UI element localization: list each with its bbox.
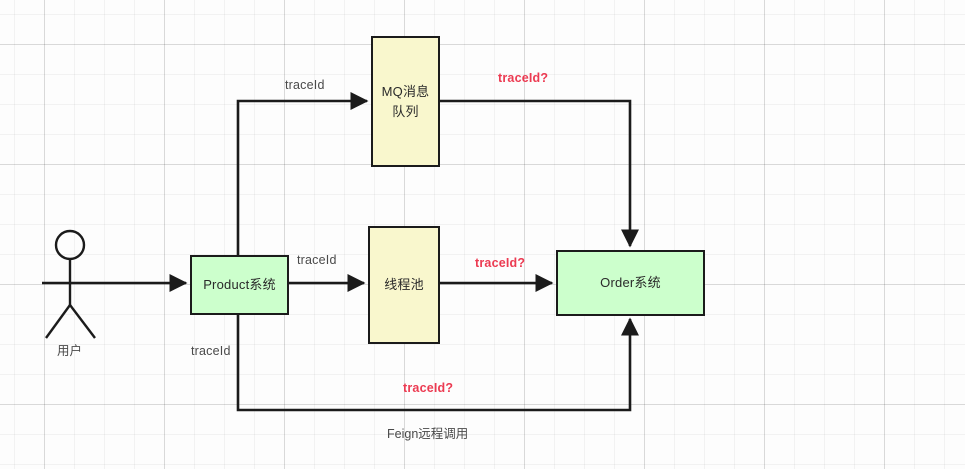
actor-user-label: 用户: [57, 340, 82, 359]
node-product-system[interactable]: Product系统: [190, 255, 289, 315]
edge-mq-to-order: [440, 101, 630, 246]
node-mq-queue[interactable]: MQ消息 队列: [371, 36, 440, 167]
node-order-system-label: Order系统: [600, 273, 661, 293]
node-mq-queue-label-line2: 队列: [392, 102, 418, 122]
node-product-system-label: Product系统: [203, 275, 276, 295]
node-thread-pool[interactable]: 线程池: [368, 226, 440, 344]
edge-label-feign-to-order: traceId?: [403, 381, 453, 395]
diagram-canvas: Product系统 MQ消息 队列 线程池 Order系统 用户 traceId…: [0, 0, 965, 469]
node-thread-pool-label: 线程池: [384, 275, 424, 295]
node-mq-queue-label-line1: MQ消息: [382, 82, 430, 102]
diagram-connectors: [0, 0, 965, 469]
node-order-system[interactable]: Order系统: [556, 250, 705, 316]
caption-feign-remote-call: Feign远程调用: [387, 423, 468, 442]
edge-label-product-down: traceId: [191, 344, 231, 358]
edge-product-to-mq: [238, 101, 367, 255]
actor-user-figure: [42, 231, 106, 338]
edge-label-mq-to-order: traceId?: [498, 71, 548, 85]
edge-label-threadpool-to-order: traceId?: [475, 256, 525, 270]
edge-label-product-to-threadpool: traceId: [297, 253, 337, 267]
edge-label-product-to-mq: traceId: [285, 78, 325, 92]
